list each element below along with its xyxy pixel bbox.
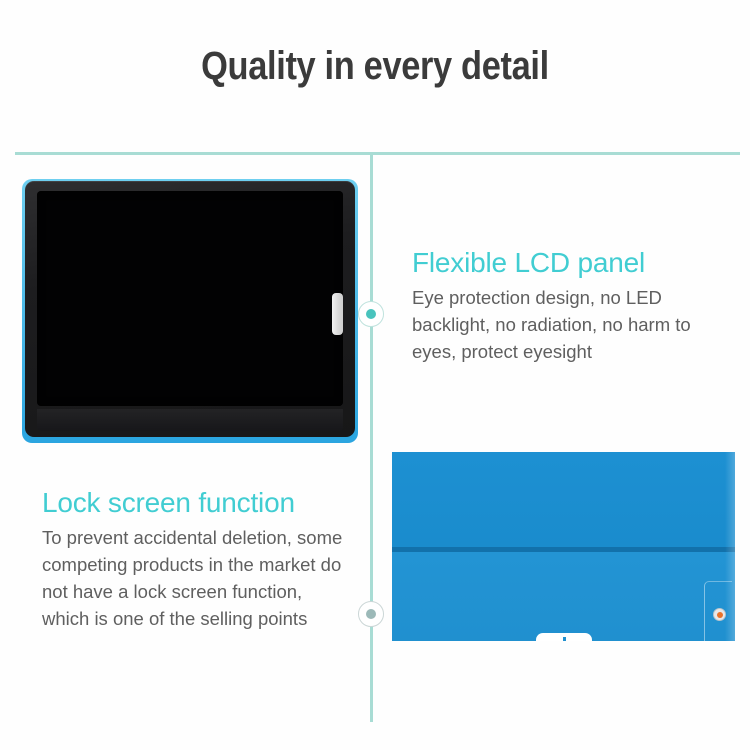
tablet-side-button-icon xyxy=(332,293,343,335)
timeline-node-lock-screen-function xyxy=(358,601,384,627)
feature-block-flexible-lcd-panel: Flexible LCD panel Eye protection design… xyxy=(412,247,722,365)
tablet-product-image xyxy=(22,179,358,443)
feature-heading-flexible-lcd-panel: Flexible LCD panel xyxy=(412,247,722,278)
feature-body-lock-screen-function: To prevent accidental deletion, some com… xyxy=(42,524,352,632)
horizontal-divider xyxy=(15,152,740,155)
panel-upper-surface xyxy=(392,452,735,547)
page-title: Quality in every detail xyxy=(53,44,698,89)
timeline-node-flexible-lcd-panel xyxy=(358,301,384,327)
feature-body-flexible-lcd-panel: Eye protection design, no LED backlight,… xyxy=(412,284,722,365)
tablet-lower-bezel xyxy=(37,409,343,431)
panel-port-icon xyxy=(713,608,726,621)
infographic-page: Quality in every detail Flexible LCD pan… xyxy=(0,0,750,750)
blue-panel-product-image xyxy=(392,452,735,641)
tablet-bezel xyxy=(25,181,355,437)
feature-heading-lock-screen-function: Lock screen function xyxy=(42,487,352,518)
panel-lower-surface xyxy=(392,552,735,641)
feature-block-lock-screen-function: Lock screen function To prevent accident… xyxy=(42,487,352,632)
vertical-divider xyxy=(370,152,373,722)
panel-notch-divider xyxy=(563,637,566,641)
tablet-screen xyxy=(37,191,343,406)
